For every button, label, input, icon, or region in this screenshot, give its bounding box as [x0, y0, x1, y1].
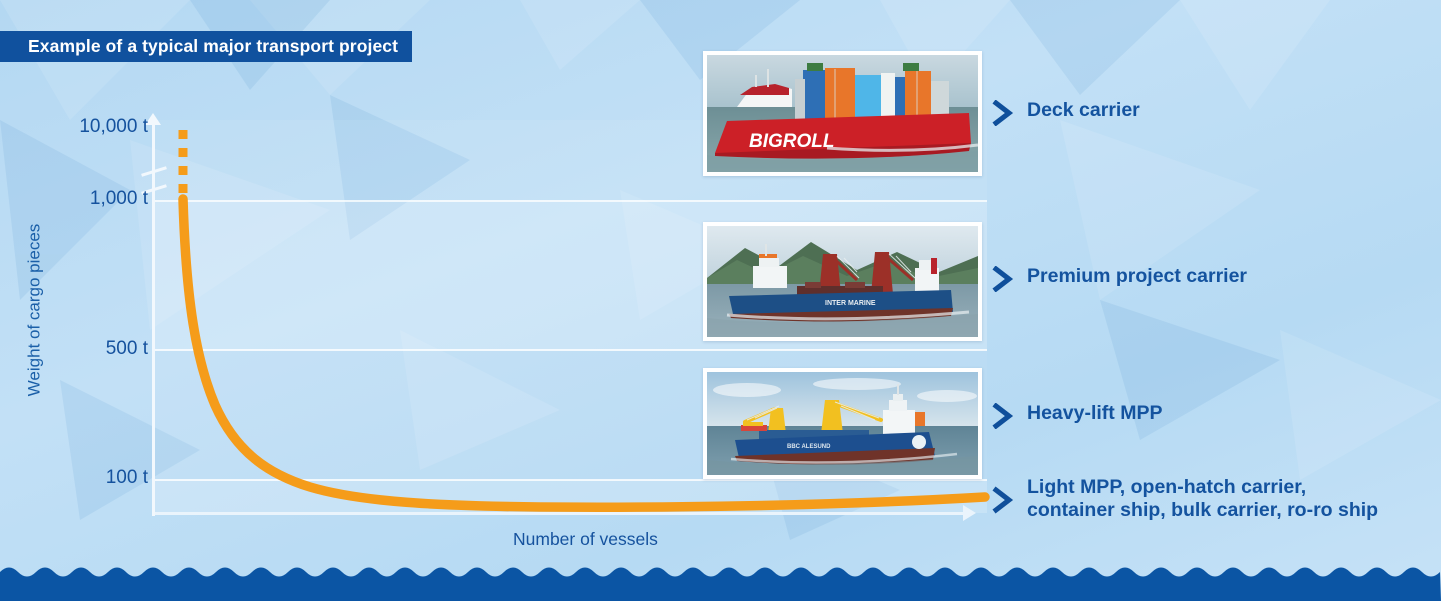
legend-row-heavy-lift-mpp[interactable]: Heavy-lift MPP	[992, 402, 1162, 429]
y-tick-10000t: 10,000 t	[79, 116, 148, 138]
footer-wave-band	[0, 561, 1441, 601]
legend-label-light-mpp: Light MPP, open-hatch carrier, container…	[1027, 476, 1378, 522]
legend-label-heavy-lift-mpp: Heavy-lift MPP	[1027, 402, 1162, 425]
svg-text:BBC ALESUND: BBC ALESUND	[787, 444, 831, 450]
y-axis-line	[152, 120, 155, 516]
legend-label-premium-project-carrier: Premium project carrier	[1027, 265, 1247, 288]
svg-text:BIGROLL: BIGROLL	[749, 131, 835, 152]
infographic-stage: Example of a typical major transport pro…	[0, 0, 1441, 601]
gridline-1000t	[155, 200, 987, 202]
x-axis-arrowhead	[963, 505, 976, 521]
chevron-right-icon	[992, 266, 1014, 292]
premium-project-carrier-photo: INTER MARINE	[703, 222, 982, 341]
legend-row-deck-carrier[interactable]: Deck carrier	[992, 99, 1140, 126]
deck-carrier-photo: BIGROLL	[703, 51, 982, 176]
y-axis-title: Weight of cargo pieces	[24, 224, 44, 397]
y-tick-100t: 100 t	[106, 467, 148, 489]
chevron-right-icon	[992, 403, 1014, 429]
chevron-right-icon	[992, 100, 1014, 126]
y-tick-labels: 10,000 t 1,000 t 500 t 100 t	[0, 0, 148, 601]
y-tick-500t: 500 t	[106, 338, 148, 360]
svg-text:INTER MARINE: INTER MARINE	[825, 300, 876, 307]
y-tick-1000t: 1,000 t	[90, 188, 148, 210]
heavy-lift-mpp-photo: BBC ALESUND	[703, 368, 982, 479]
x-axis-line	[155, 512, 970, 515]
gridline-100t	[155, 479, 987, 481]
band-100	[155, 480, 987, 513]
x-axis-title: Number of vessels	[513, 529, 658, 550]
gridline-500t	[155, 349, 987, 351]
legend-row-premium-project-carrier[interactable]: Premium project carrier	[992, 265, 1247, 292]
chevron-right-icon	[992, 485, 1014, 515]
legend-label-deck-carrier: Deck carrier	[1027, 99, 1140, 122]
legend-row-light-mpp[interactable]: Light MPP, open-hatch carrier, container…	[992, 476, 1378, 522]
